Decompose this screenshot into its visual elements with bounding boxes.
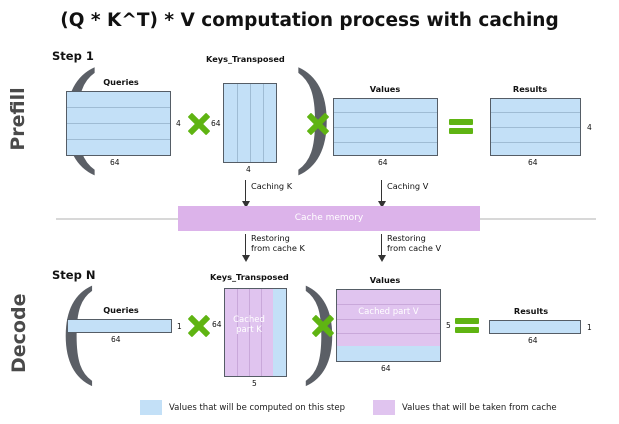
legend-item-computed: Values that will be computed on this ste… bbox=[140, 400, 345, 415]
dim-keys-decode-bottom: 5 bbox=[252, 379, 257, 388]
matrix-keys-transposed-decode: Cached part K bbox=[224, 288, 287, 377]
dim-keys-prefill-bottom: 4 bbox=[246, 165, 251, 174]
dim-queries-prefill-right: 4 bbox=[176, 119, 181, 128]
legend-swatch-cached-icon bbox=[373, 400, 395, 415]
page-title: (Q * K^T) * V computation process with c… bbox=[0, 10, 619, 31]
dim-values-decode-bottom: 64 bbox=[381, 364, 391, 373]
operator-equals-2 bbox=[455, 317, 479, 335]
matrix-title-results-decode: Results bbox=[486, 307, 576, 317]
matrix-title-queries-decode: Queries bbox=[76, 306, 166, 316]
dim-values-decode-right: 5 bbox=[446, 321, 451, 330]
matrix-values-prefill bbox=[333, 98, 438, 156]
operator-multiply-1 bbox=[186, 112, 210, 136]
operator-multiply-3 bbox=[186, 314, 210, 338]
operator-multiply-4 bbox=[310, 314, 334, 338]
dim-queries-decode-bottom: 64 bbox=[111, 335, 121, 344]
section-label-prefill: Prefill bbox=[7, 84, 29, 154]
matrix-title-values-decode: Values bbox=[340, 276, 430, 286]
dim-queries-prefill-bottom: 64 bbox=[110, 158, 120, 167]
matrix-results-prefill bbox=[490, 98, 581, 156]
arrow-restoring-v bbox=[381, 234, 382, 256]
dim-results-decode-right: 1 bbox=[587, 323, 592, 332]
dim-results-prefill-right: 4 bbox=[587, 123, 592, 132]
dim-queries-decode-right: 1 bbox=[177, 322, 182, 331]
matrix-values-decode: Cached part V bbox=[336, 289, 441, 362]
section-label-decode: Decode bbox=[8, 303, 30, 373]
label-restoring-v: Restoring from cache V bbox=[387, 234, 441, 253]
arrow-caching-k bbox=[245, 180, 246, 202]
legend-swatch-computed-icon bbox=[140, 400, 162, 415]
cached-label-k: Cached part K bbox=[225, 315, 273, 335]
label-restoring-k: Restoring from cache K bbox=[251, 234, 305, 253]
matrix-keys-transposed-prefill bbox=[223, 83, 277, 163]
matrix-title-values-prefill: Values bbox=[340, 85, 430, 95]
matrix-title-keys-decode: Keys_Transposed bbox=[210, 273, 285, 283]
label-caching-v: Caching V bbox=[387, 182, 428, 192]
matrix-title-keys-prefill: Keys_Transposed bbox=[206, 55, 281, 65]
matrix-queries-prefill bbox=[66, 91, 171, 156]
legend-label-cached: Values that will be taken from cache bbox=[402, 403, 557, 413]
legend: Values that will be computed on this ste… bbox=[140, 400, 580, 415]
matrix-title-results-prefill: Results bbox=[485, 85, 575, 95]
arrow-caching-v bbox=[381, 180, 382, 202]
matrix-queries-decode bbox=[67, 319, 172, 333]
cache-memory-label: Cache memory bbox=[178, 206, 480, 231]
dim-keys-decode-left: 64 bbox=[212, 320, 222, 329]
label-caching-k: Caching K bbox=[251, 182, 292, 192]
dim-values-prefill-bottom: 64 bbox=[378, 158, 388, 167]
dim-results-decode-bottom: 64 bbox=[528, 336, 538, 345]
label-restoring-k-line2: from cache K bbox=[251, 243, 305, 253]
dim-results-prefill-bottom: 64 bbox=[528, 158, 538, 167]
matrix-title-queries-prefill: Queries bbox=[76, 78, 166, 88]
label-restoring-k-line1: Restoring bbox=[251, 233, 290, 243]
dim-keys-prefill-left: 64 bbox=[211, 119, 221, 128]
cached-label-v: Cached part V bbox=[337, 307, 440, 317]
label-restoring-v-line1: Restoring bbox=[387, 233, 426, 243]
matrix-results-decode bbox=[489, 320, 581, 334]
cache-memory-bar: Cache memory bbox=[178, 206, 480, 231]
label-restoring-v-line2: from cache V bbox=[387, 243, 441, 253]
arrow-restoring-k bbox=[245, 234, 246, 256]
operator-multiply-2 bbox=[305, 112, 329, 136]
legend-label-computed: Values that will be computed on this ste… bbox=[169, 403, 345, 413]
legend-item-cached: Values that will be taken from cache bbox=[373, 400, 557, 415]
operator-equals-1 bbox=[449, 118, 473, 136]
